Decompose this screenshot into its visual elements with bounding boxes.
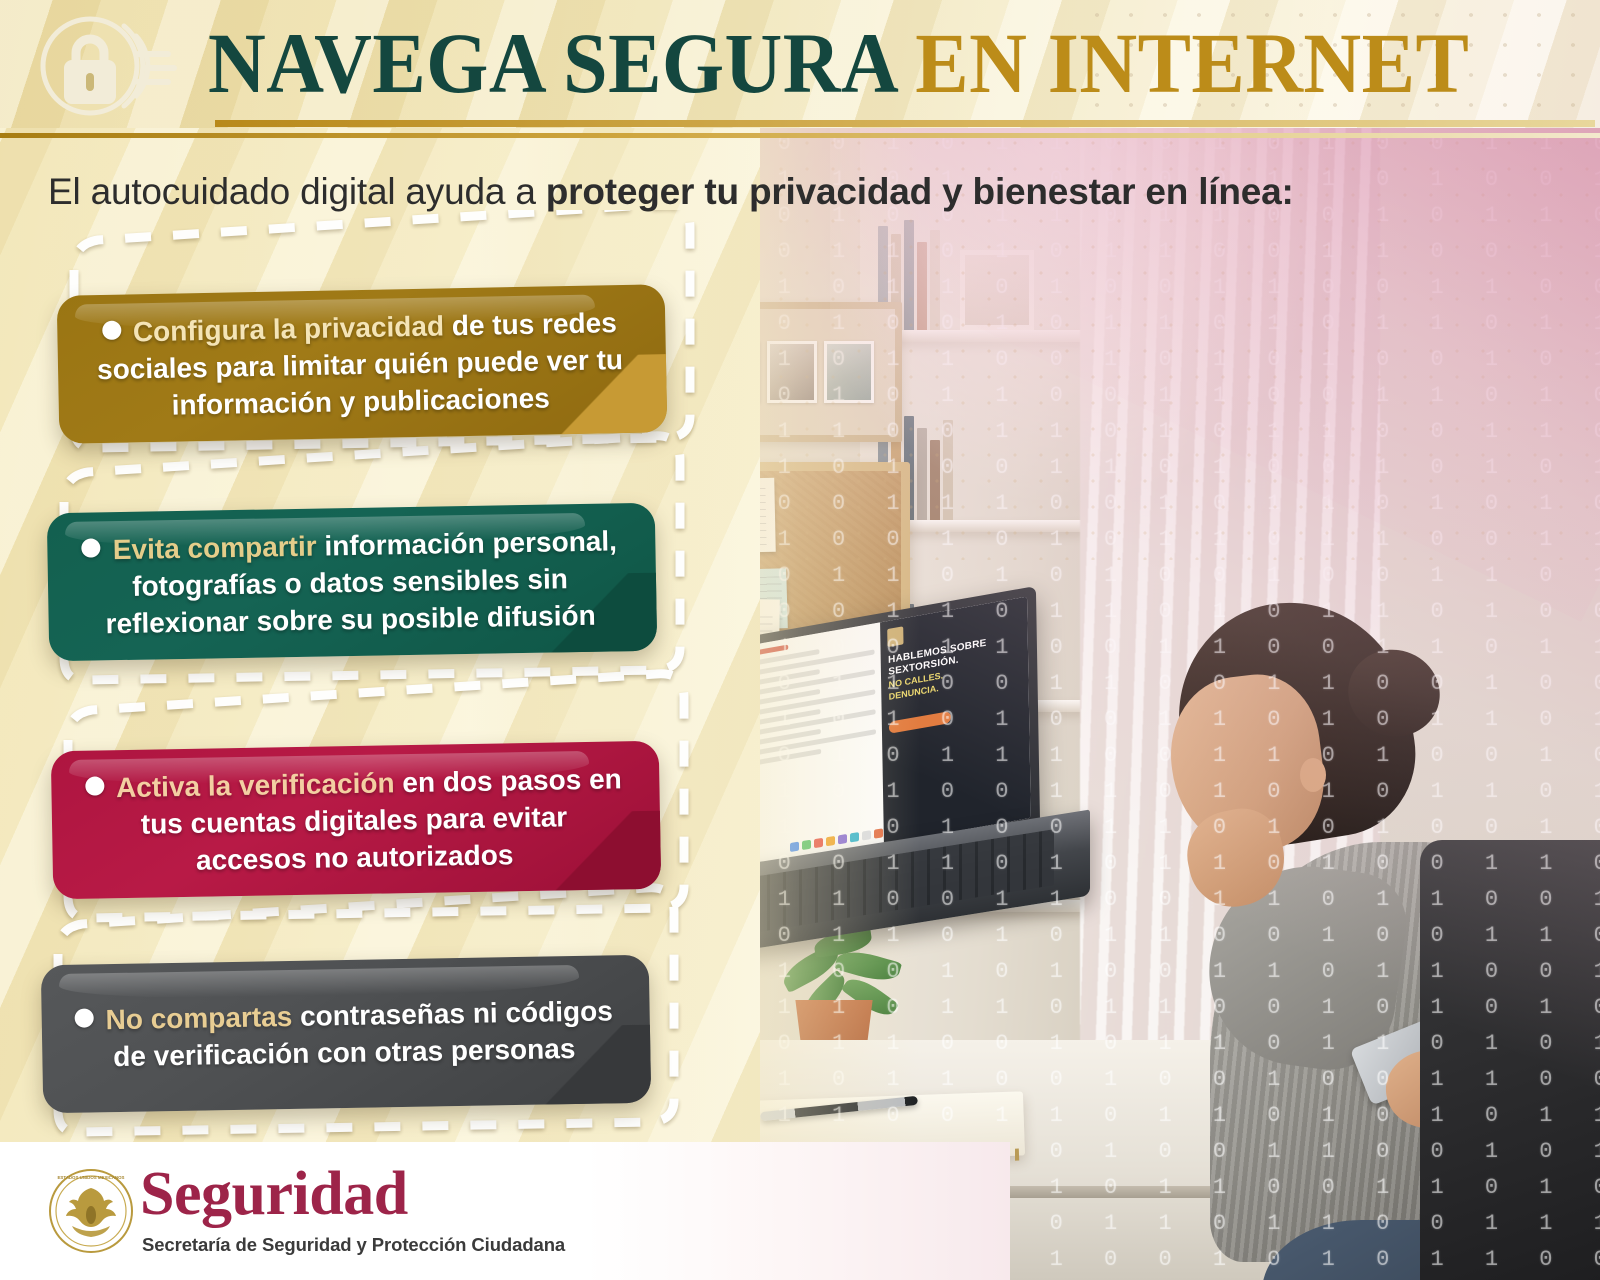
page-title: NAVEGA SEGURA EN INTERNET — [208, 11, 1491, 115]
callout-2-text: Evita compartir información personal, fo… — [47, 521, 657, 643]
callout-3-text: Activa la verificación en dos pasos en t… — [51, 759, 661, 881]
subtitle-strong: proteger tu privacidad y bienestar en lí… — [546, 171, 1294, 212]
bullet-dot-icon — [85, 776, 104, 795]
svg-text:ESTADOS UNIDOS MEXICANOS: ESTADOS UNIDOS MEXICANOS — [57, 1175, 124, 1180]
subtitle: El autocuidado digital ayuda a proteger … — [48, 168, 1568, 216]
callout-box-1[interactable]: Configura la privacidad de tus redes soc… — [57, 284, 668, 444]
mexican-coat-of-arms-icon: ESTADOS UNIDOS MEXICANOS — [48, 1168, 134, 1254]
title-part-2: EN INTERNET — [915, 15, 1469, 111]
bullet-dot-icon — [74, 1008, 93, 1027]
infographic-poster: HABLEMOS SOBRE SEXTORSIÓN. NO CALLES. DE… — [0, 0, 1600, 1280]
title-rule-short — [215, 120, 1595, 127]
brand-name: Seguridad — [140, 1158, 408, 1230]
lock-network-icon — [28, 10, 178, 122]
callout-box-3[interactable]: Activa la verificación en dos pasos en t… — [51, 741, 661, 900]
header-band: NAVEGA SEGURA EN INTERNET — [0, 0, 1600, 128]
callout-box-4[interactable]: No compartas contraseñas ni códigos de v… — [41, 955, 651, 1114]
callout-4-text: No compartas contraseñas ni códigos de v… — [41, 992, 650, 1077]
bullet-dot-icon — [102, 320, 121, 339]
callout-2-lead: Evita compartir — [113, 530, 317, 565]
callout-1-lead: Configura la privacidad — [133, 310, 445, 347]
footer-logo-bar: ESTADOS UNIDOS MEXICANOS Seguridad Secre… — [0, 1142, 1010, 1280]
department-name: Secretaría de Seguridad y Protección Ciu… — [142, 1234, 565, 1256]
callout-box-2[interactable]: Evita compartir información personal, fo… — [47, 503, 657, 662]
title-part-1: NAVEGA SEGURA — [208, 15, 895, 111]
callout-1-text: Configura la privacidad de tus redes soc… — [57, 303, 667, 426]
callout-3-lead: Activa la verificación — [116, 767, 395, 803]
title-rule-long — [0, 133, 1600, 138]
subtitle-lead: El autocuidado digital ayuda a — [48, 171, 546, 212]
bullet-dot-icon — [82, 538, 101, 557]
callout-4-lead: No compartas — [105, 1001, 292, 1035]
